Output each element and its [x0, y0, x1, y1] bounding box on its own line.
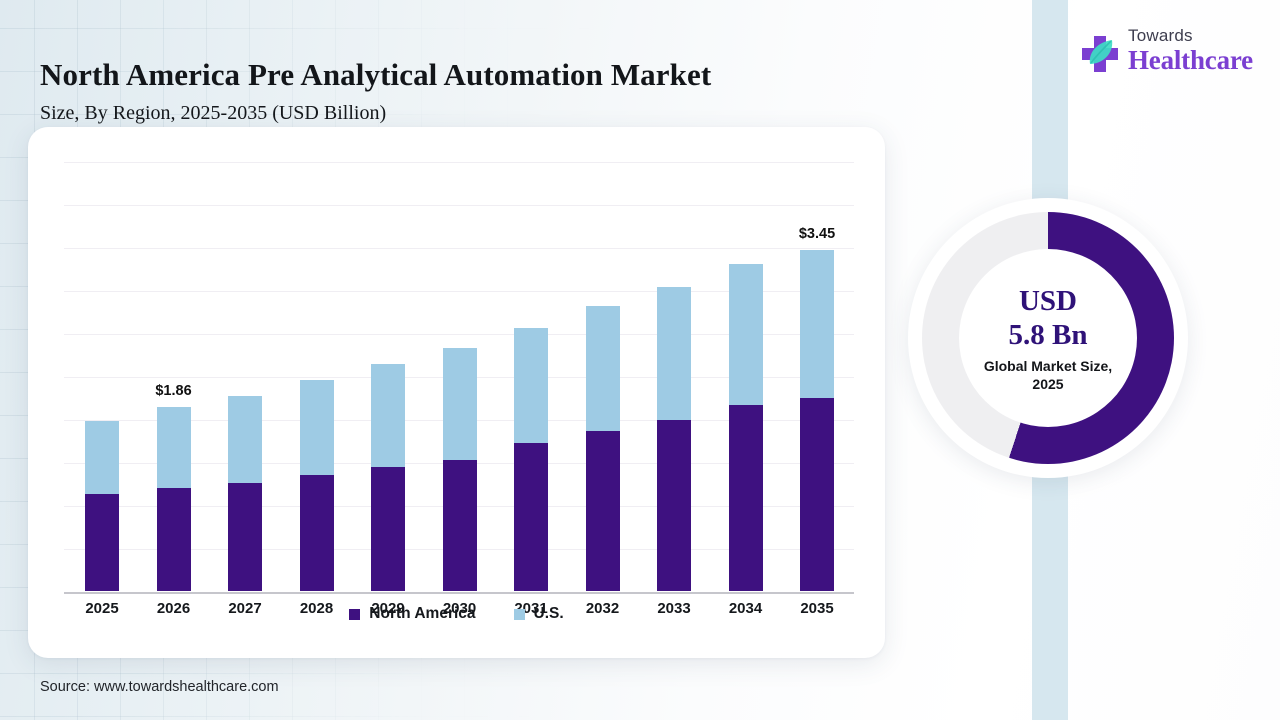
bar-stack[interactable] [443, 348, 477, 591]
bar-stack[interactable] [514, 328, 548, 591]
medical-cross-leaf-icon [1078, 32, 1122, 76]
bar-segment-us[interactable] [514, 328, 548, 443]
bar-stack[interactable] [228, 396, 262, 591]
chart-card: $1.86$3.45 20252026202720282029203020312… [28, 127, 885, 658]
bar-chart-plot-area: $1.86$3.45 20252026202720282029203020312… [64, 160, 854, 593]
bar-segment-north-america[interactable] [657, 420, 691, 591]
bar-segment-north-america[interactable] [729, 405, 763, 591]
bar-stack[interactable] [300, 380, 334, 591]
bar-stack[interactable] [729, 264, 763, 591]
donut-caption: Global Market Size, 2025 [973, 357, 1123, 393]
bar-segment-north-america[interactable] [85, 494, 119, 591]
bar-stack[interactable] [157, 407, 191, 591]
gridline [64, 205, 854, 206]
bar-segment-north-america[interactable] [800, 398, 834, 591]
global-market-size-donut: USD 5.8 Bn Global Market Size, 2025 [908, 198, 1188, 478]
bar-segment-us[interactable] [300, 380, 334, 475]
bar-segment-us[interactable] [729, 264, 763, 405]
source-attribution: Source: www.towardshealthcare.com [40, 679, 279, 695]
legend-swatch-icon [349, 609, 360, 620]
bar-stack[interactable] [371, 364, 405, 591]
brand-name-top: Towards [1128, 26, 1258, 46]
bar-segment-us[interactable] [228, 396, 262, 483]
gridline [64, 162, 854, 163]
legend-label: U.S. [534, 605, 564, 623]
bar-segment-us[interactable] [443, 348, 477, 460]
bar-segment-north-america[interactable] [443, 460, 477, 591]
bar-stack[interactable] [800, 250, 834, 591]
donut-value-label: 5.8 Bn [1009, 318, 1088, 352]
bar-segment-us[interactable] [157, 407, 191, 488]
bar-segment-us[interactable] [800, 250, 834, 398]
bar-segment-us[interactable] [85, 421, 119, 494]
brand-name-bottom: Healthcare [1128, 46, 1258, 74]
page-subtitle: Size, By Region, 2025-2035 (USD Billion) [40, 102, 920, 125]
legend-item[interactable]: North America [349, 605, 475, 623]
bar-stack[interactable] [657, 287, 691, 591]
bar-segment-north-america[interactable] [300, 475, 334, 591]
page-title: North America Pre Analytical Automation … [40, 57, 920, 93]
x-axis-line [64, 592, 854, 594]
bar-value-label: $3.45 [772, 226, 862, 242]
gridline [64, 248, 854, 249]
bar-segment-north-america[interactable] [371, 467, 405, 591]
bar-segment-us[interactable] [657, 287, 691, 420]
donut-currency-label: USD [1019, 284, 1077, 318]
legend-swatch-icon [514, 609, 525, 620]
bar-segment-us[interactable] [371, 364, 405, 468]
legend-item[interactable]: U.S. [514, 605, 564, 623]
bar-segment-north-america[interactable] [586, 431, 620, 591]
bar-stack[interactable] [586, 306, 620, 591]
bar-segment-north-america[interactable] [514, 443, 548, 591]
bar-segment-north-america[interactable] [157, 488, 191, 591]
brand-logo-text: Towards Healthcare [1128, 26, 1258, 74]
bar-value-label: $1.86 [129, 383, 219, 399]
bar-segment-us[interactable] [586, 306, 620, 431]
bar-segment-north-america[interactable] [228, 483, 262, 591]
bar-stack[interactable] [85, 421, 119, 591]
legend-label: North America [369, 605, 475, 623]
chart-legend: North AmericaU.S. [28, 605, 885, 623]
donut-center-content: USD 5.8 Bn Global Market Size, 2025 [959, 249, 1137, 427]
brand-logo: Towards Healthcare [1078, 26, 1258, 82]
